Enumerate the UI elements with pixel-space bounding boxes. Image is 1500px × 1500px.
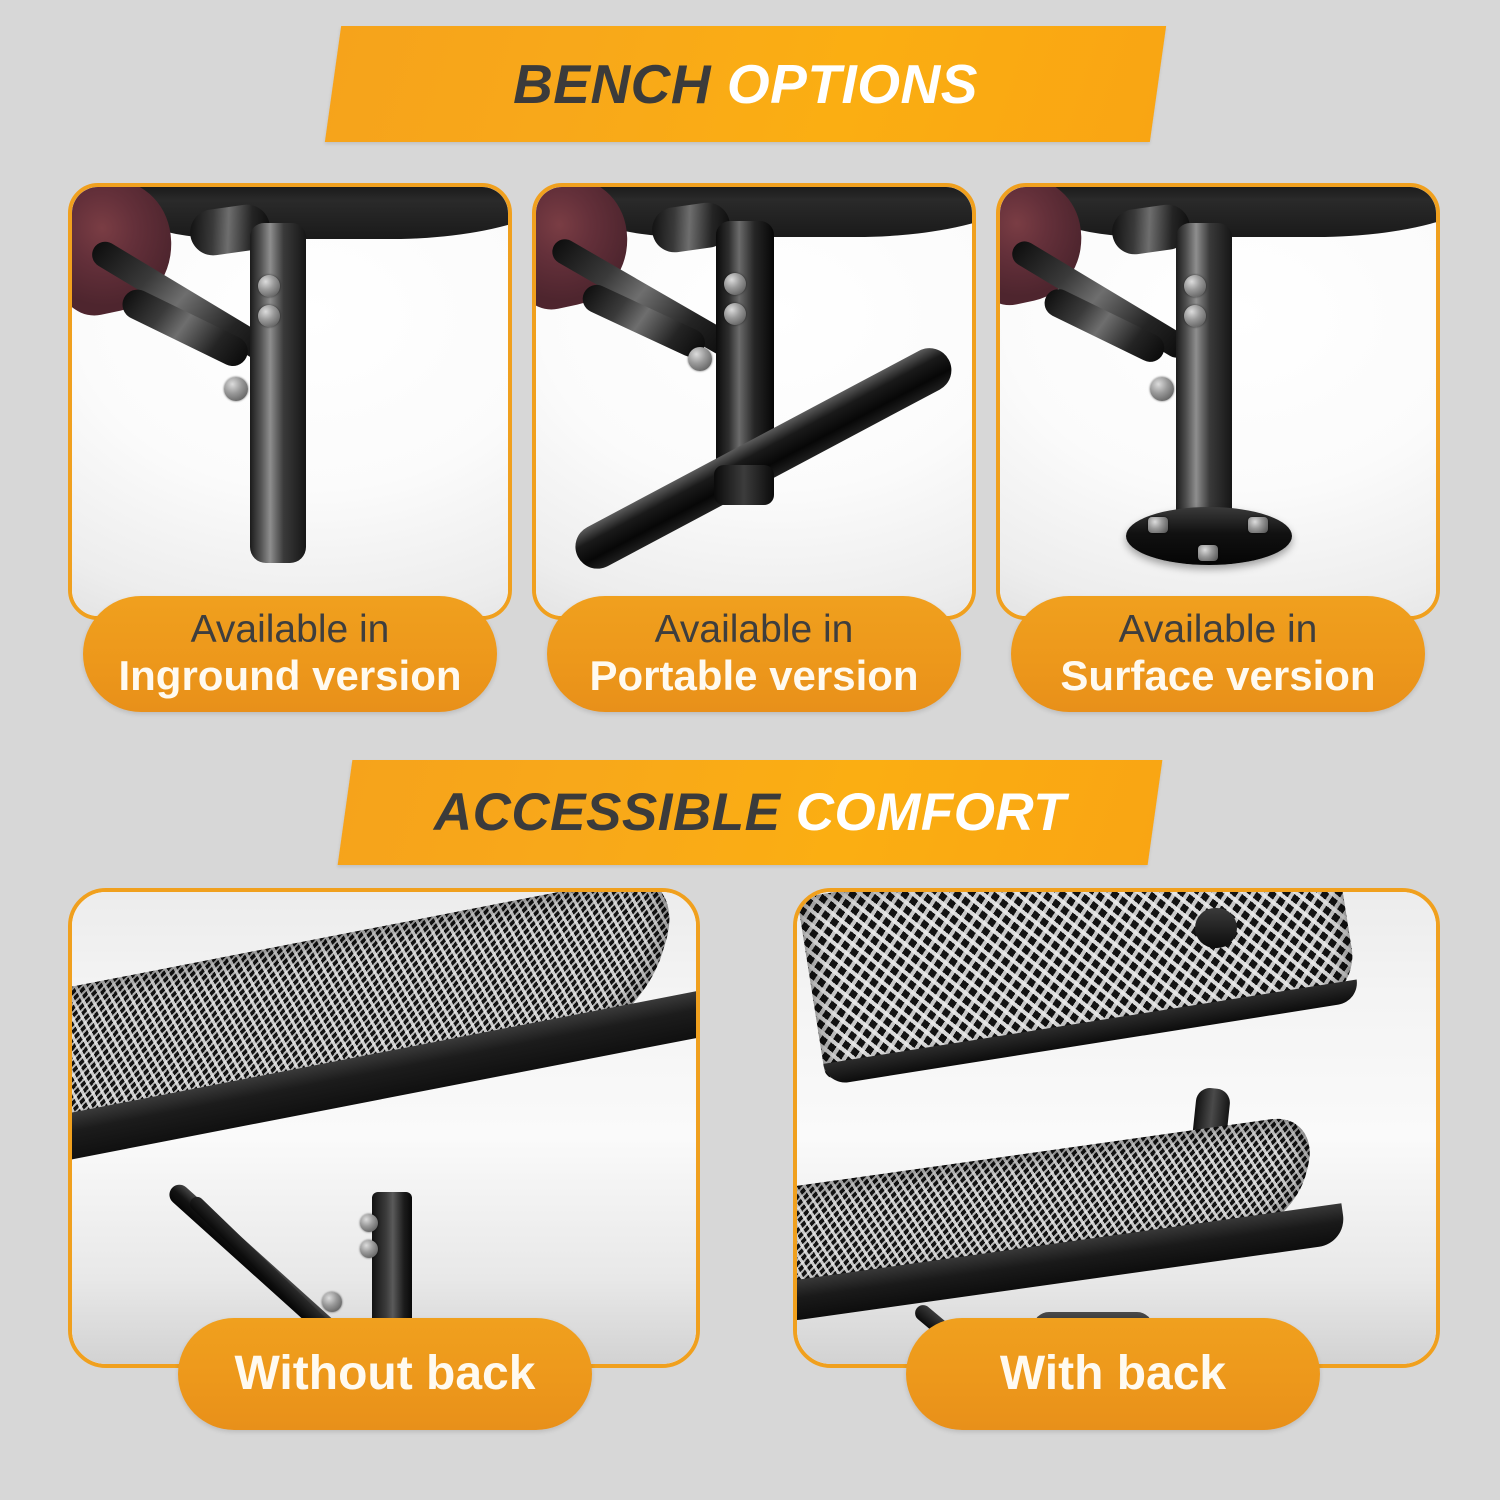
pill-surface: Available in Surface version [1011, 596, 1425, 712]
banner-dark-word: BENCH [513, 53, 727, 115]
pill-variant: Surface version [1060, 652, 1375, 700]
pill-with-back: With back [906, 1318, 1320, 1430]
banner-light-word: COMFORT [796, 783, 1066, 842]
photo-surface [1000, 187, 1436, 616]
banner-light-word: OPTIONS [727, 53, 978, 115]
photo-portable [536, 187, 972, 616]
accessible-comfort-banner-text: ACCESSIBLE COMFORT [434, 786, 1066, 839]
photo-without-back [72, 892, 696, 1364]
card-inground[interactable] [68, 183, 512, 620]
photo-with-back [797, 892, 1436, 1364]
pill-prefix: Available in [655, 608, 854, 652]
bench-options-banner: BENCH OPTIONS [333, 26, 1158, 142]
card-surface[interactable] [996, 183, 1440, 620]
card-with-back[interactable] [793, 888, 1440, 1368]
infographic-page: BENCH OPTIONS [0, 0, 1500, 1500]
pill-prefix: Available in [191, 608, 390, 652]
accessible-comfort-banner: ACCESSIBLE COMFORT [345, 760, 1155, 865]
card-portable[interactable] [532, 183, 976, 620]
bench-options-banner-text: BENCH OPTIONS [513, 57, 978, 112]
pill-portable: Available in Portable version [547, 596, 961, 712]
pill-without-back: Without back [178, 1318, 592, 1430]
photo-inground [72, 187, 508, 616]
pill-inground: Available in Inground version [83, 596, 497, 712]
pill-prefix: Available in [1119, 608, 1318, 652]
pill-label: With back [1000, 1348, 1226, 1401]
pill-label: Without back [235, 1348, 536, 1401]
card-without-back[interactable] [68, 888, 700, 1368]
pill-variant: Inground version [118, 652, 461, 700]
pill-variant: Portable version [589, 652, 918, 700]
banner-dark-word: ACCESSIBLE [434, 783, 796, 842]
